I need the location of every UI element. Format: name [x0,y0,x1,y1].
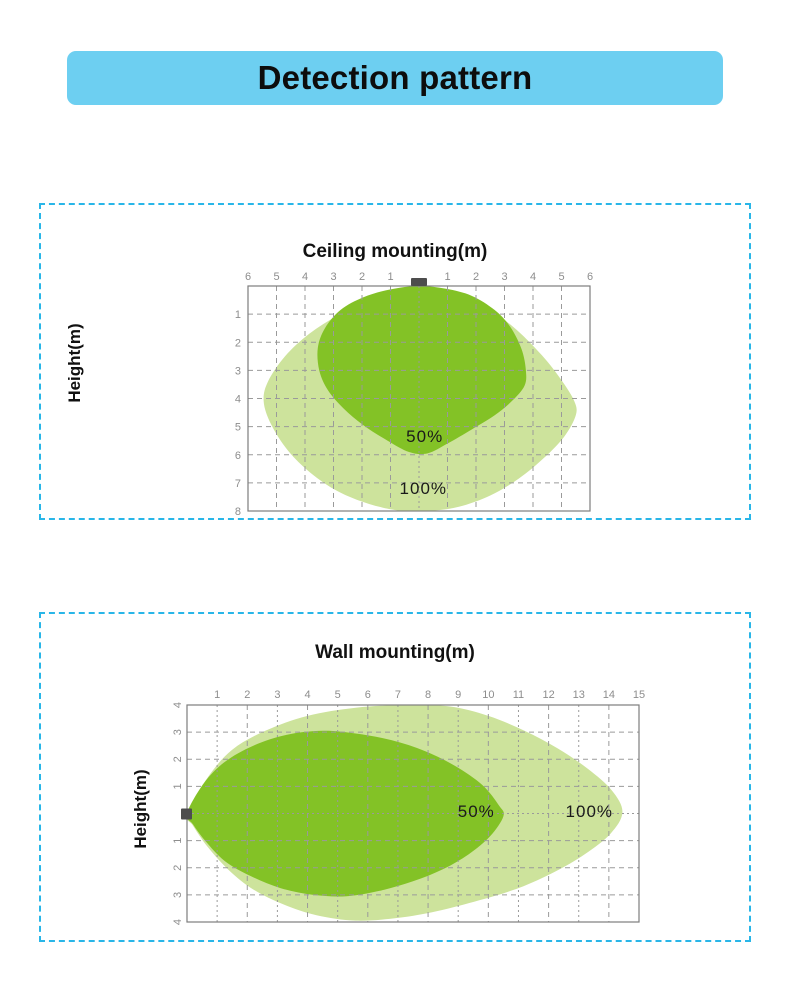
wall-y-tick-label: 2 [172,756,184,762]
wall-zone-label-100: 100% [566,802,613,821]
wall-x-tick-label: 6 [365,689,371,701]
wall-x-tick-label: 8 [425,689,431,701]
wall-y-tick-label: 3 [172,729,184,735]
page-header-banner: Detection pattern [67,51,723,105]
wall-x-tick-label: 9 [455,689,461,701]
ceiling-y-tick-label: 5 [235,422,241,434]
ceiling-x-tick-label: 3 [330,271,336,283]
wall-chart-wrapper: Wall mounting(m) Height(m) 1234567891011… [41,614,749,940]
wall-sensor-marker [181,809,192,820]
wall-y-tick-label: 1 [172,783,184,789]
ceiling-x-tick-label: 3 [501,271,507,283]
wall-x-tick-label: 7 [395,689,401,701]
wall-y-tick-label: 4 [172,702,184,708]
ceiling-x-tick-label: 5 [273,271,279,283]
ceiling-y-tick-label: 7 [235,478,241,490]
ceiling-y-tick-label: 3 [235,365,241,377]
ceiling-x-tick-label: 5 [558,271,564,283]
ceiling-x-tick-label: 1 [387,271,393,283]
wall-x-tick-label: 2 [244,689,250,701]
ceiling-y-tick-label: 4 [235,394,241,406]
wall-x-tick-label: 15 [633,689,645,701]
wall-zone-label-50: 50% [458,802,495,821]
ceiling-zone-label-100: 100% [400,479,447,498]
ceiling-y-axis-label: Height(m) [65,313,85,413]
wall-x-tick-label: 10 [482,689,494,701]
wall-y-axis-label: Height(m) [131,759,151,859]
ceiling-x-tick-label: 6 [245,271,251,283]
wall-x-tick-label: 3 [274,689,280,701]
ceiling-chart-title: Ceiling mounting(m) [41,241,749,263]
wall-y-tick-label: 1 [172,838,184,844]
wall-y-tick-label: 3 [172,892,184,898]
wall-x-tick-label: 13 [573,689,585,701]
ceiling-zone-label-50: 50% [406,427,443,446]
ceiling-y-tick-label: 2 [235,337,241,349]
wall-x-tick-label: 12 [542,689,554,701]
page-title: Detection pattern [258,59,533,97]
ceiling-y-tick-label: 6 [235,450,241,462]
ceiling-x-tick-label: 1 [444,271,450,283]
wall-x-tick-label: 14 [603,689,615,701]
wall-y-tick-label: 4 [172,919,184,925]
ceiling-chart-wrapper: Ceiling mounting(m) Height(m) 6543211234… [41,205,749,518]
ceiling-mounting-panel: Ceiling mounting(m) Height(m) 6543211234… [39,203,751,520]
ceiling-x-tick-label: 2 [359,271,365,283]
ceiling-y-tick-label: 8 [235,506,241,518]
wall-x-tick-label: 11 [513,689,524,701]
wall-mounting-panel: Wall mounting(m) Height(m) 1234567891011… [39,612,751,942]
wall-chart-title: Wall mounting(m) [41,642,749,664]
ceiling-x-tick-label: 6 [587,271,593,283]
wall-y-tick-label: 2 [172,865,184,871]
ceiling-x-tick-label: 2 [473,271,479,283]
ceiling-x-tick-label: 4 [302,271,308,283]
ceiling-x-tick-label: 4 [530,271,536,283]
ceiling-sensor-marker [411,278,427,286]
wall-x-tick-label: 4 [304,689,310,701]
wall-x-tick-label: 1 [214,689,220,701]
ceiling-y-tick-label: 1 [235,309,241,321]
wall-x-tick-label: 5 [335,689,341,701]
